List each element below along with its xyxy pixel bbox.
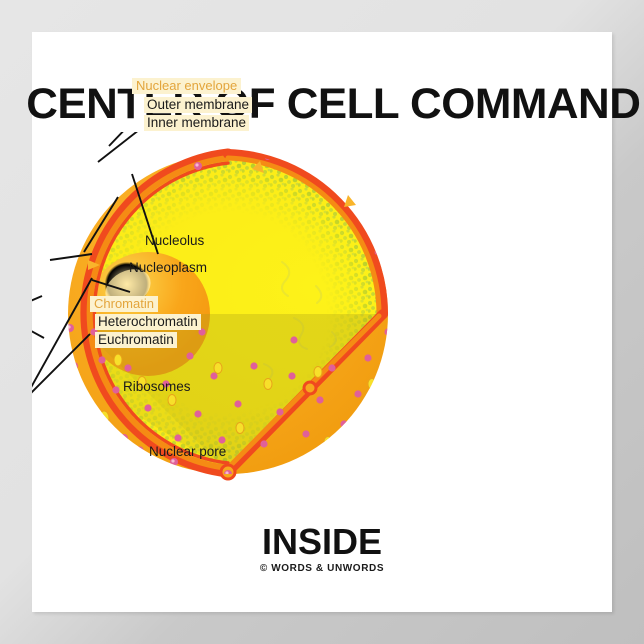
caption-main: INSIDE bbox=[32, 522, 612, 562]
label-heterochromatin: Heterochromatin bbox=[95, 314, 201, 330]
label-outer-membrane: Outer membrane bbox=[144, 97, 252, 113]
page-title: CENTER OF CELL COMMAND bbox=[26, 80, 618, 129]
label-nucleoplasm: Nucleoplasm bbox=[129, 260, 207, 276]
label-nucleolus: Nucleolus bbox=[145, 233, 204, 249]
label-nuclear-pore: Nuclear pore bbox=[149, 444, 226, 460]
poster-canvas: CENTER OF CELL COMMAND bbox=[32, 32, 612, 612]
leader-ribosomes-b bbox=[32, 314, 44, 338]
leader-inner-membrane bbox=[98, 132, 153, 162]
poster-caption: INSIDE © WORDS & UNWORDS bbox=[32, 522, 612, 574]
label-nuclear-envelope-group: Nuclear envelope bbox=[132, 78, 241, 94]
poster-mat: CENTER OF CELL COMMAND bbox=[0, 0, 644, 644]
caption-credit: © WORDS & UNWORDS bbox=[32, 563, 612, 574]
label-ribosomes: Ribosomes bbox=[123, 379, 191, 395]
label-chromatin-group: Chromatin bbox=[90, 296, 158, 312]
leader-outer-membrane bbox=[109, 132, 153, 146]
leader-ribosomes-a bbox=[32, 296, 42, 314]
label-inner-membrane: Inner membrane bbox=[144, 115, 249, 131]
label-euchromatin: Euchromatin bbox=[95, 332, 177, 348]
